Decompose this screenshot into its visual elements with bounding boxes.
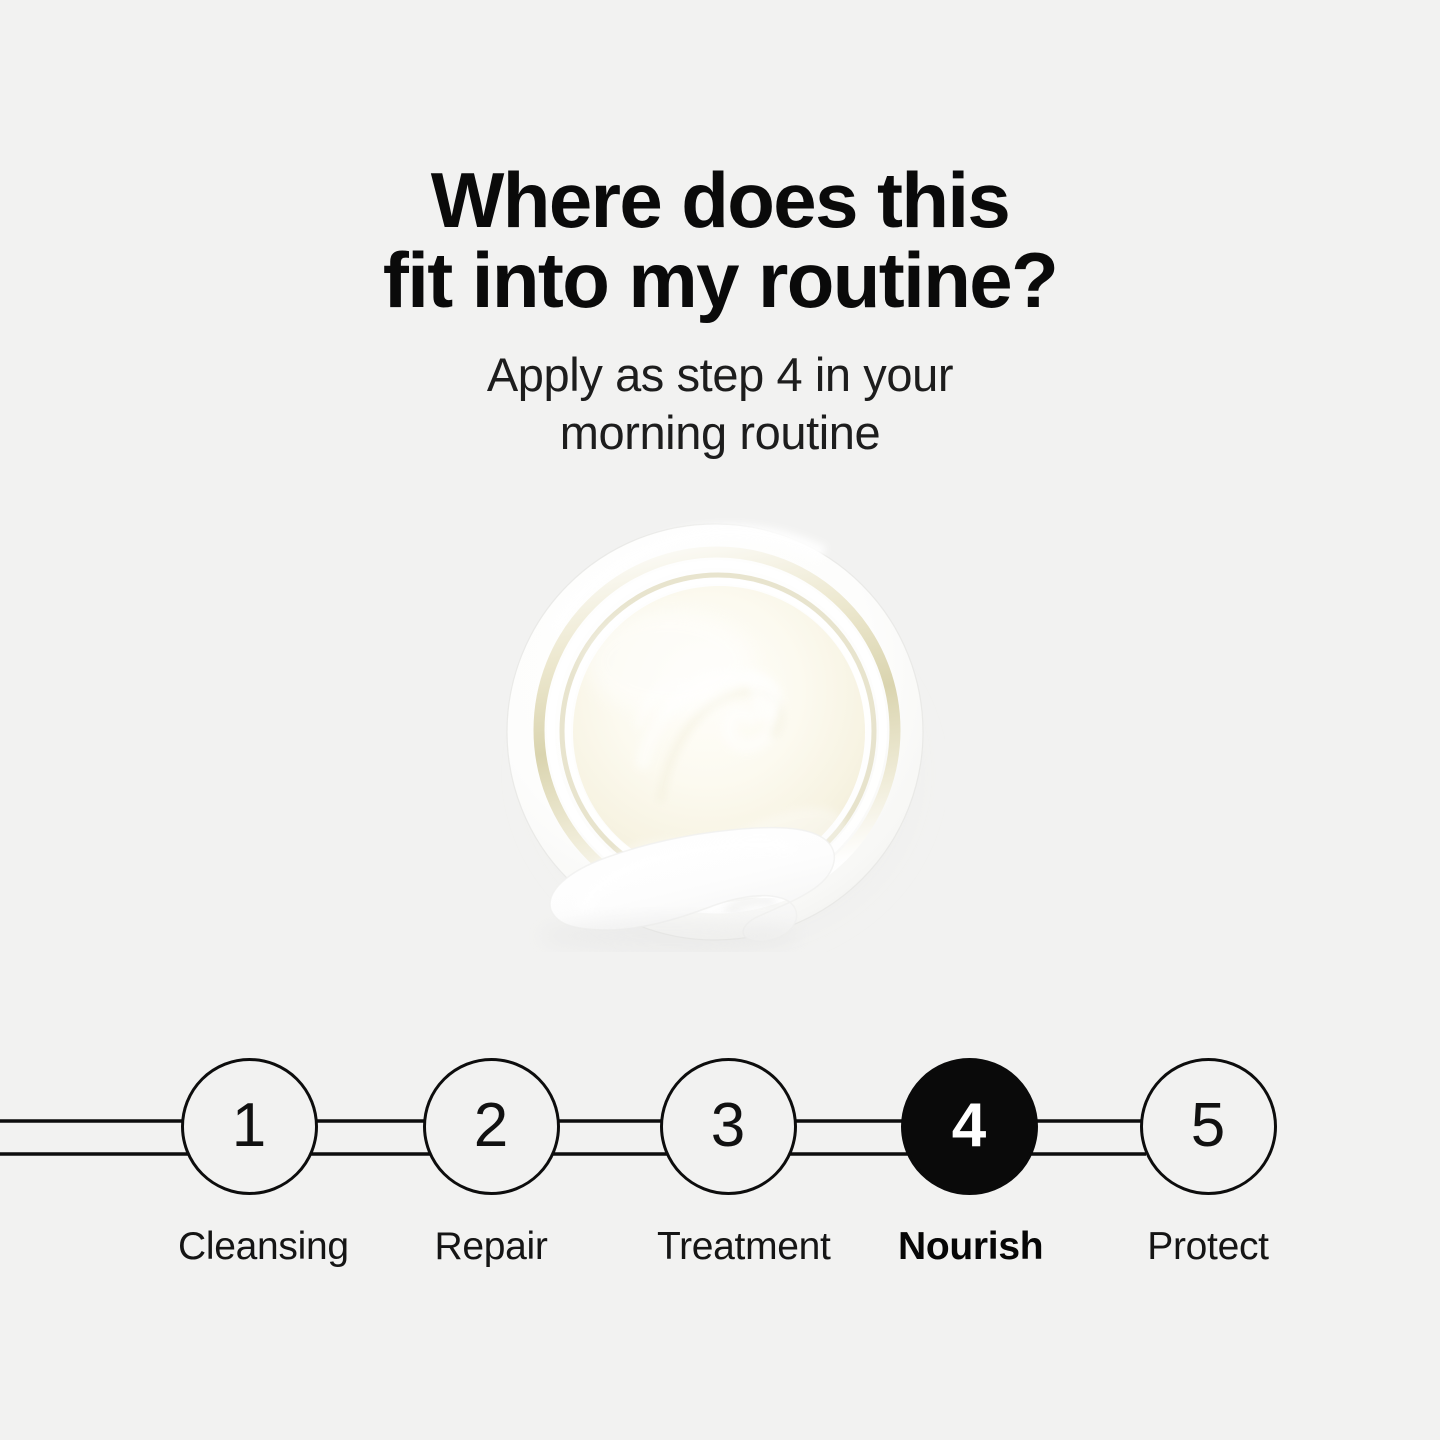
step-number-4: 4	[952, 1095, 986, 1157]
step-item-3[interactable]: 3 Treatment	[657, 1058, 799, 1269]
headline-block: Where does this fit into my routine? App…	[0, 160, 1440, 462]
step-circle-4-active[interactable]: 4	[901, 1058, 1038, 1195]
page-title-line-2: fit into my routine?	[0, 240, 1440, 320]
routine-step-tracker: 1 Cleansing 2 Repair 3 Treatment 4	[0, 1050, 1440, 1310]
step-circle-1[interactable]: 1	[181, 1058, 318, 1195]
step-label-repair: Repair	[420, 1225, 562, 1269]
step-item-2[interactable]: 2 Repair	[420, 1058, 562, 1269]
step-list: 1 Cleansing 2 Repair 3 Treatment 4	[0, 1050, 1440, 1310]
product-image	[493, 512, 945, 952]
step-item-5[interactable]: 5 Protect	[1137, 1058, 1279, 1269]
step-label-treatment: Treatment	[657, 1225, 799, 1269]
step-number-3: 3	[711, 1095, 745, 1157]
page-subtitle-line-1: Apply as step 4 in your	[0, 346, 1440, 404]
step-number-5: 5	[1191, 1095, 1225, 1157]
page-title: Where does this fit into my routine?	[0, 160, 1440, 320]
page-title-line-1: Where does this	[0, 160, 1440, 240]
step-label-protect: Protect	[1137, 1225, 1279, 1269]
step-circle-3[interactable]: 3	[660, 1058, 797, 1195]
step-label-nourish: Nourish	[898, 1225, 1040, 1269]
step-label-cleansing: Cleansing	[178, 1225, 320, 1269]
page-subtitle-line-2: morning routine	[0, 404, 1440, 462]
cream-highlight	[585, 610, 753, 714]
step-number-1: 1	[232, 1095, 266, 1157]
infographic-canvas: Where does this fit into my routine? App…	[0, 0, 1440, 1440]
step-item-4[interactable]: 4 Nourish	[898, 1058, 1040, 1269]
step-circle-5[interactable]: 5	[1140, 1058, 1277, 1195]
step-number-2: 2	[474, 1095, 508, 1157]
page-subtitle: Apply as step 4 in your morning routine	[0, 346, 1440, 462]
step-circle-2[interactable]: 2	[423, 1058, 560, 1195]
step-item-1[interactable]: 1 Cleansing	[178, 1058, 320, 1269]
